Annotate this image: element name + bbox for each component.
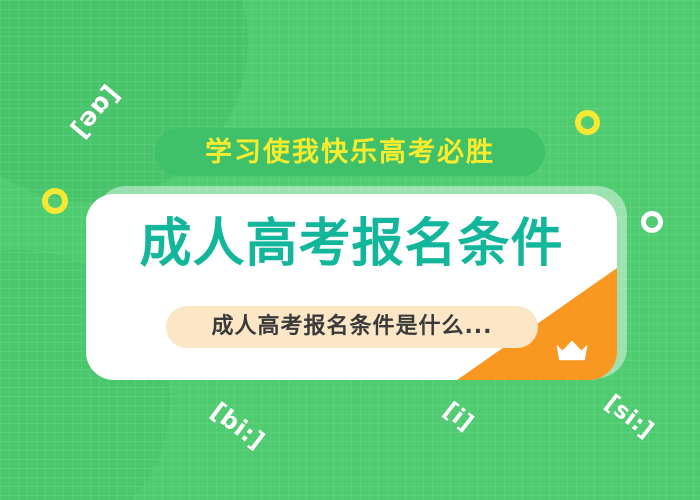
poster-canvas: [ɑe] [bi:] [i] [si:] 学习使我快乐高考必胜 成人高考报名条件… [0, 0, 700, 500]
subtitle-pill: 成人高考报名条件是什么... [166, 306, 538, 348]
ring-white-right-icon [641, 211, 663, 233]
subtitle-text: 成人高考报名条件是什么... [211, 316, 492, 338]
headline-card: 成人高考报名条件 成人高考报名条件是什么... [86, 194, 617, 380]
slogan-banner: 学习使我快乐高考必胜 [155, 128, 545, 176]
phonetic-i-decoration: [i] [438, 397, 478, 436]
page-title: 成人高考报名条件 [86, 218, 617, 270]
ring-yellow-right-icon [575, 110, 600, 135]
ring-yellow-left-icon [42, 188, 68, 214]
slogan-banner-text: 学习使我快乐高考必胜 [205, 139, 495, 166]
phonetic-bi-decoration: [bi:] [206, 397, 270, 455]
phonetic-si-decoration: [si:] [600, 390, 659, 444]
crown-icon [554, 337, 590, 364]
